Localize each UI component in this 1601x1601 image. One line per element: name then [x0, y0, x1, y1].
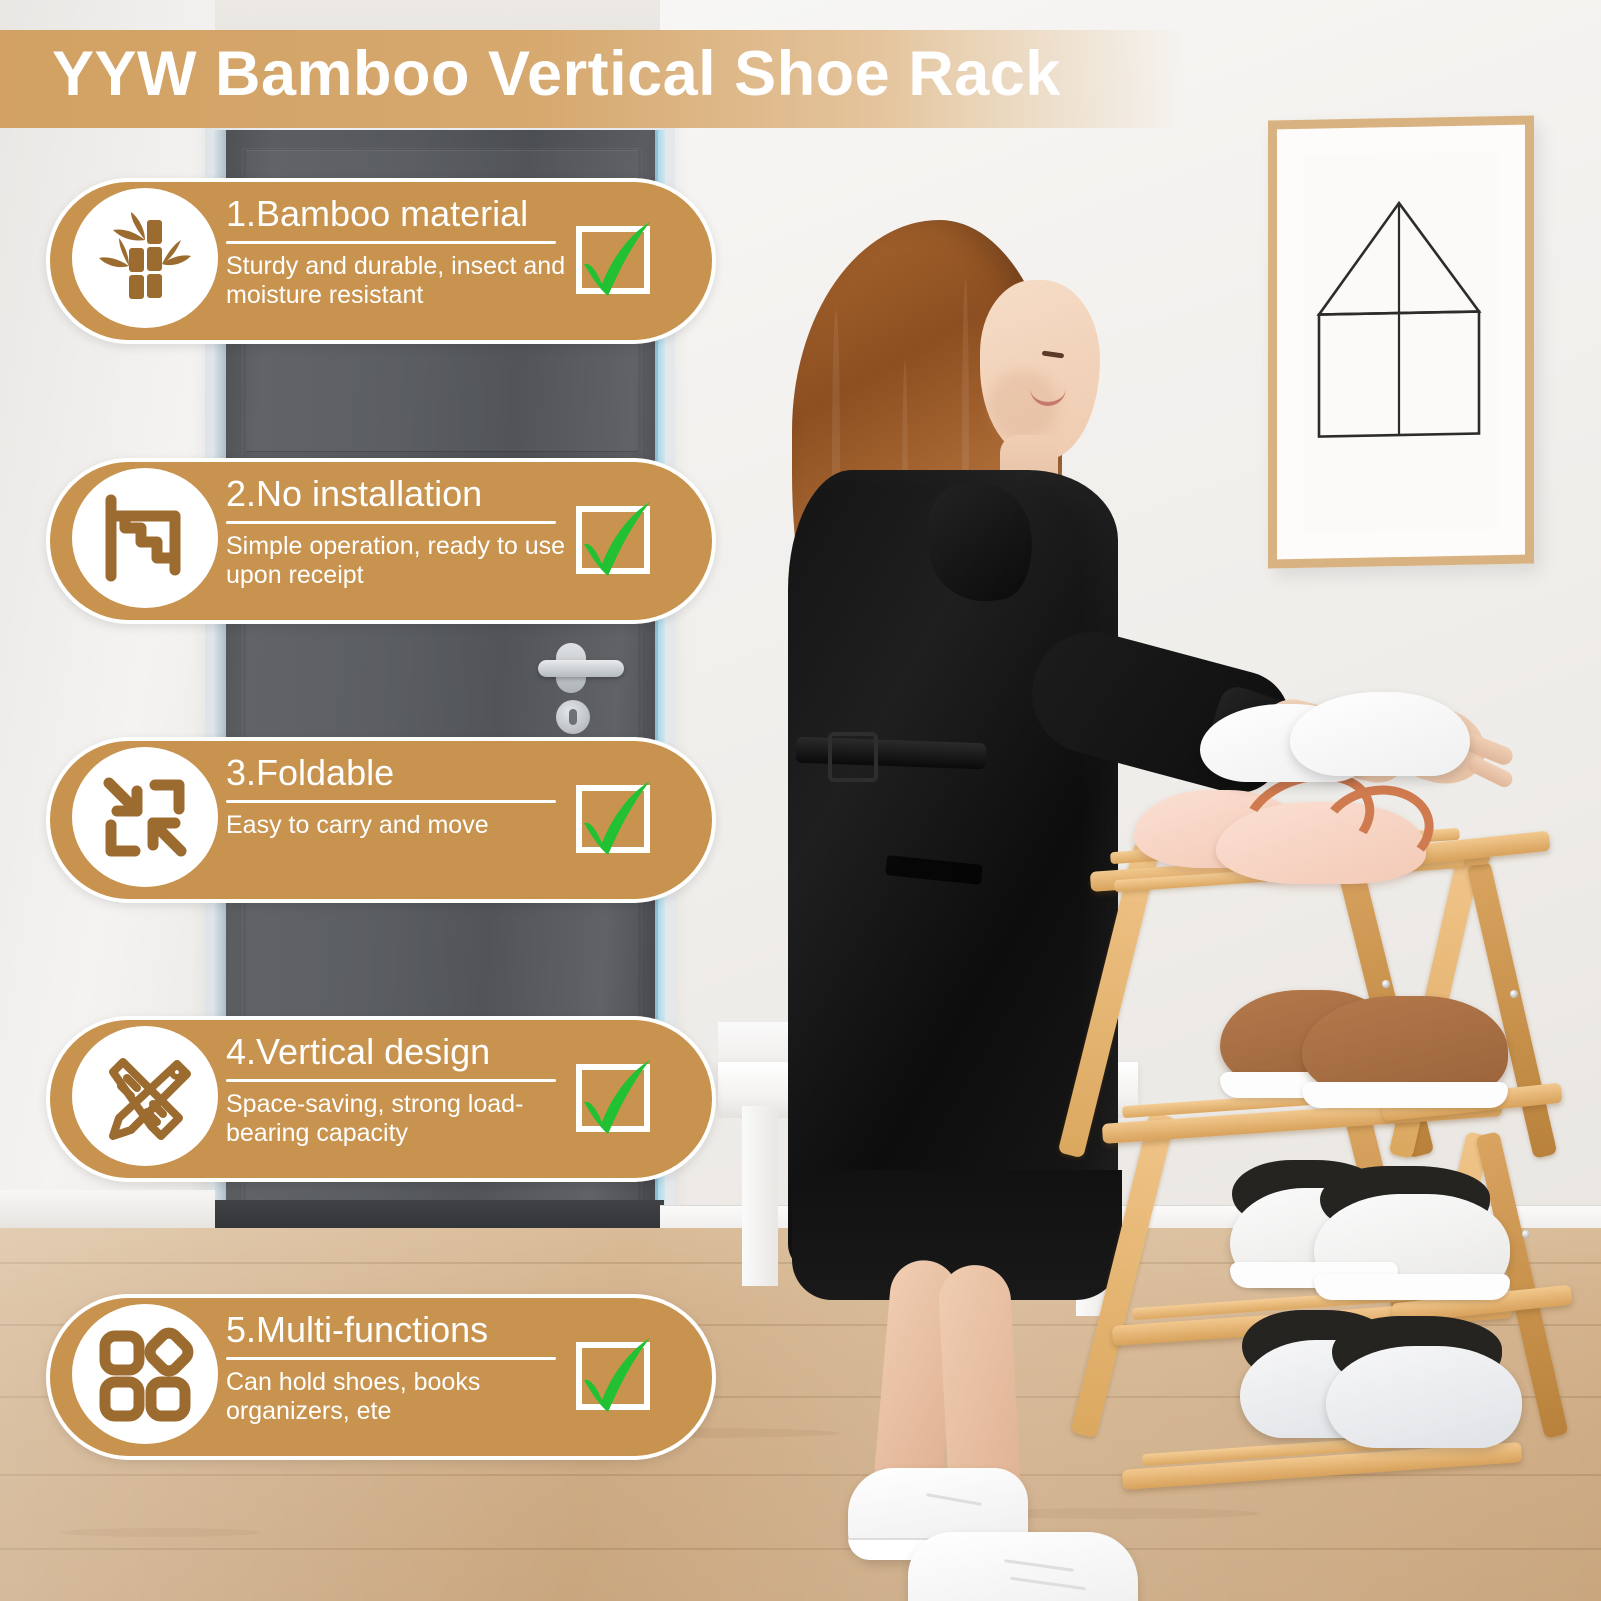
feature-pill-4[interactable]: 4.Vertical design Space-saving, strong l… [46, 1016, 716, 1182]
feature-subtitle-4: Space-saving, strong load-bearing capaci… [226, 1090, 590, 1148]
divider [226, 1357, 556, 1360]
product-infographic: YYW Bamboo Vertical Shoe Rack [0, 0, 1601, 1601]
framed-wall-art [1268, 115, 1534, 568]
feature-text-2: 2.No installation Simple operation, read… [226, 474, 590, 590]
feature-subtitle-2: Simple operation, ready to use upon rece… [226, 532, 590, 590]
divider [226, 800, 556, 803]
feature-text-1: 1.Bamboo material Sturdy and durable, in… [226, 194, 590, 310]
feature-subtitle-5: Can hold shoes, books organizers, ete [226, 1368, 590, 1426]
feature-text-4: 4.Vertical design Space-saving, strong l… [226, 1032, 590, 1148]
bamboo-shoe-rack [1070, 690, 1580, 1500]
foldable-collapse-icon [72, 747, 218, 887]
feature-title-1: 1.Bamboo material [226, 194, 590, 234]
page-title: YYW Bamboo Vertical Shoe Rack [52, 38, 1061, 110]
no-installation-icon [72, 468, 218, 608]
title-banner: YYW Bamboo Vertical Shoe Rack [0, 30, 1185, 128]
green-check-icon [568, 496, 662, 584]
white-sneaker-right [908, 1532, 1138, 1601]
brown-shoe-front [1302, 996, 1508, 1096]
divider [226, 1079, 556, 1082]
divider [226, 241, 556, 244]
feature-title-2: 2.No installation [226, 474, 590, 514]
feature-pill-3[interactable]: 3.Foldable Easy to carry and move [46, 737, 716, 903]
house-line-drawing-icon [1311, 183, 1487, 476]
feature-subtitle-1: Sturdy and durable, insect and moisture … [226, 252, 590, 310]
belt-buckle [828, 732, 878, 782]
green-check-icon [568, 1332, 662, 1420]
green-check-icon [568, 775, 662, 863]
feature-pill-5[interactable]: 5.Multi-functions Can hold shoes, books … [46, 1294, 716, 1460]
door-handle [538, 660, 624, 677]
placed-white-sneaker-b [1290, 692, 1470, 776]
feature-subtitle-3: Easy to carry and move [226, 811, 590, 840]
green-check-icon [568, 1054, 662, 1142]
pencil-ruler-icon [72, 1026, 218, 1166]
feature-text-5: 5.Multi-functions Can hold shoes, books … [226, 1310, 590, 1426]
feature-pill-1[interactable]: 1.Bamboo material Sturdy and durable, in… [46, 178, 716, 344]
divider [226, 521, 556, 524]
feature-title-5: 5.Multi-functions [226, 1310, 590, 1350]
baseboard-left [0, 1190, 215, 1232]
feature-title-3: 3.Foldable [226, 753, 590, 793]
door-lock [556, 700, 590, 734]
green-check-icon [568, 216, 662, 304]
feature-pill-2[interactable]: 2.No installation Simple operation, read… [46, 458, 716, 624]
multi-shapes-icon [72, 1304, 218, 1444]
feature-text-3: 3.Foldable Easy to carry and move [226, 753, 590, 840]
grey-shoe-front [1326, 1346, 1522, 1448]
feature-title-4: 4.Vertical design [226, 1032, 590, 1072]
bamboo-icon [72, 188, 218, 328]
